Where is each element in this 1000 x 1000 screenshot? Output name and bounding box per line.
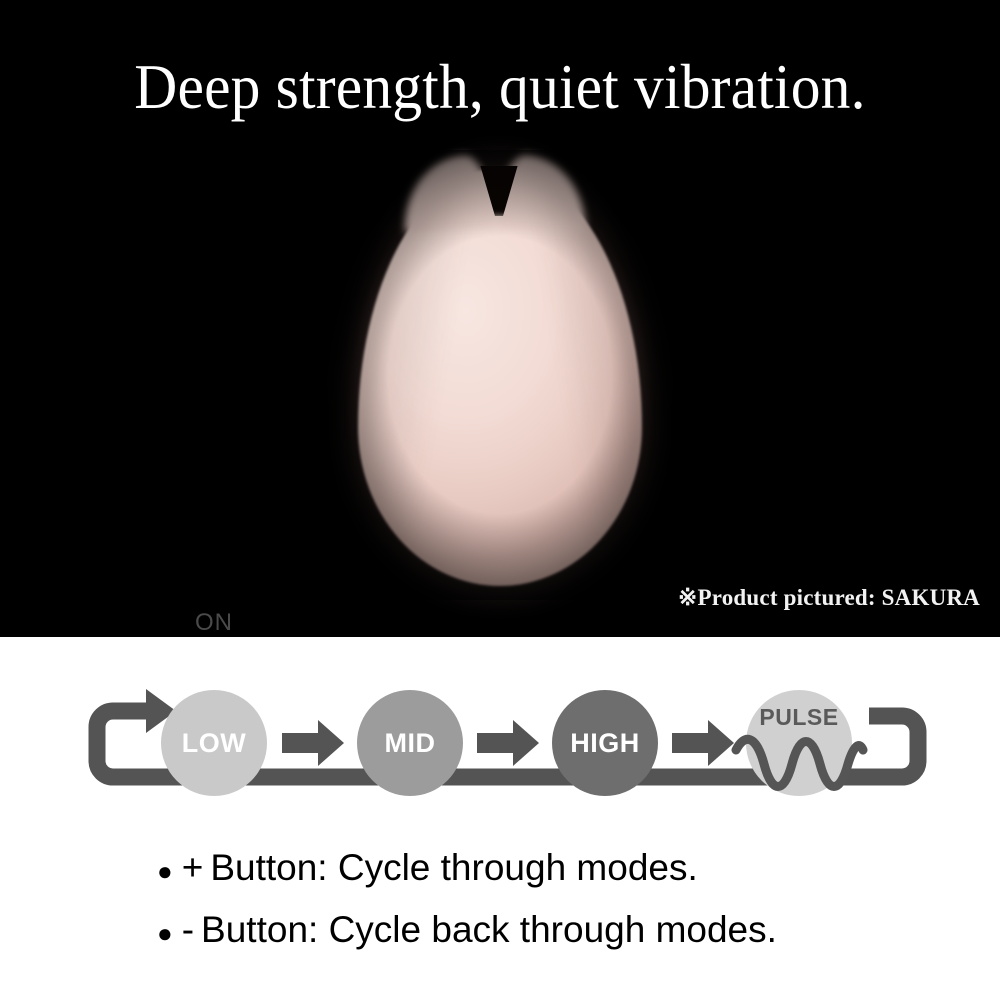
bullet-dot-icon: ● xyxy=(157,920,173,946)
mode-label-high: HIGH xyxy=(570,728,640,759)
instruction-text: Button: Cycle back through modes. xyxy=(201,899,777,961)
arrow-mid-to-high xyxy=(477,720,539,766)
plus-sign: + xyxy=(182,837,204,899)
product-notch xyxy=(478,166,520,238)
mode-node-low[interactable]: LOW xyxy=(161,690,267,796)
mode-row: ON LOW MID HIGH PULSE xyxy=(0,637,1000,837)
hero-section: Deep strength, quiet vibration. ※Product… xyxy=(0,0,1000,637)
mode-node-pulse[interactable]: PULSE xyxy=(746,690,852,796)
mode-node-mid[interactable]: MID xyxy=(357,690,463,796)
mode-label-pulse: PULSE xyxy=(759,704,838,731)
mode-label-mid: MID xyxy=(385,728,436,759)
pulse-wave-icon xyxy=(734,736,864,792)
mode-node-high[interactable]: HIGH xyxy=(552,690,658,796)
mode-diagram-section: ON LOW MID HIGH PULSE xyxy=(0,637,1000,1000)
instruction-text: Button: Cycle through modes. xyxy=(210,837,697,899)
mode-label-low: LOW xyxy=(182,728,246,759)
bullet-dot-icon: ● xyxy=(157,858,173,884)
minus-sign: - xyxy=(182,899,194,961)
on-label: ON xyxy=(161,609,267,637)
list-item: ● - Button: Cycle back through modes. xyxy=(0,899,1000,961)
list-item: ● + Button: Cycle through modes. xyxy=(0,837,1000,899)
instruction-list: ● + Button: Cycle through modes. ● - But… xyxy=(0,837,1000,961)
product-infographic: Deep strength, quiet vibration. ※Product… xyxy=(0,0,1000,1000)
page-title: Deep strength, quiet vibration. xyxy=(35,54,965,120)
arrow-high-to-pulse xyxy=(672,720,734,766)
arrow-low-to-mid xyxy=(282,720,344,766)
product-caption: ※Product pictured: SAKURA xyxy=(678,585,980,611)
product-photo xyxy=(325,150,675,600)
